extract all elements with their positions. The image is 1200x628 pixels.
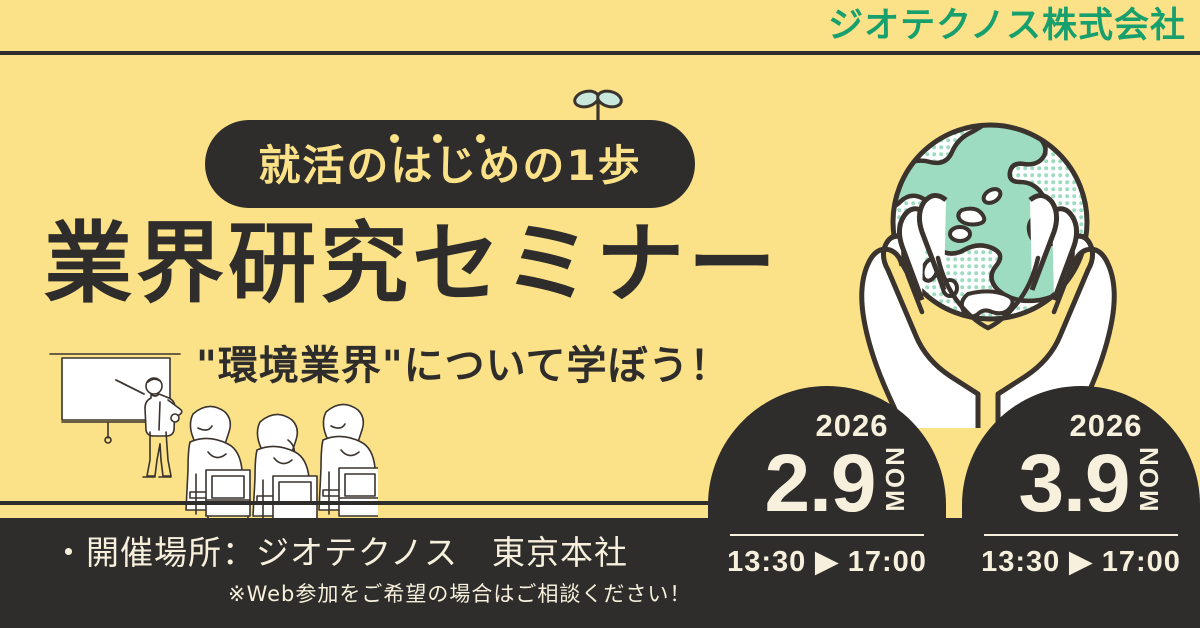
date-card-1-content: 2026 2.9 MON 13:30 ▶ 17:00 [708,386,946,628]
date-year: 2026 [1070,410,1143,441]
date-separator [984,534,1178,536]
page-subtitle: "環境業界"について学ぼう！ [196,344,756,388]
page-title: 業界研究セミナー [44,216,864,311]
catch-badge: 就活のはじめの1歩 [205,120,695,208]
date-day-row: 3.9 MON [1019,445,1162,522]
web-participation-note: ※Web参加をご希望の場合はご相談ください！ [228,582,691,607]
footer-divider [0,501,720,505]
seminar-poster: ジオテクノス株式会社 就活のはじめの1歩 [0,0,1200,628]
date-day-row: 2.9 MON [765,445,908,522]
date-time: 13:30 ▶ 17:00 [981,548,1181,577]
catch-badge-label: 就活のはじめの1歩 [258,141,641,187]
date-time: 13:30 ▶ 17:00 [727,548,927,577]
date-day: 2.9 [765,446,876,521]
date-year: 2026 [816,410,889,441]
hands-holding-globe-icon [820,82,1156,428]
date-cards: 2026 2.9 MON 13:30 ▶ 17:00 2026 3.9 MON … [708,386,1200,628]
date-separator [730,534,924,536]
header-divider [0,51,1200,55]
date-weekday: MON [1136,445,1162,512]
date-weekday: MON [882,445,908,512]
company-logo: ジオテクノス株式会社 [828,6,1186,46]
date-day: 3.9 [1019,446,1130,521]
venue-text: ・開催場所：ジオテクノス 東京本社 [52,533,628,573]
date-card-2-content: 2026 3.9 MON 13:30 ▶ 17:00 [962,386,1200,628]
